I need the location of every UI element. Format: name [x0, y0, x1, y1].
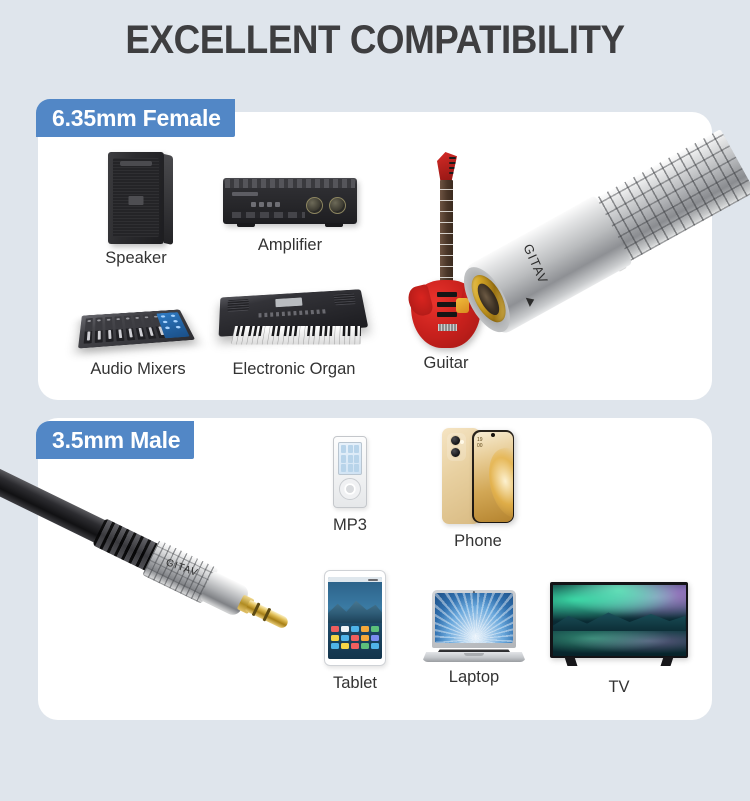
guitar-icon [409, 152, 483, 348]
amplifier-icon [223, 178, 357, 224]
audio-mixer-icon [79, 282, 197, 346]
device-label: Speaker [88, 249, 184, 268]
compatibility-infographic: EXCELLENT COMPATIBILITY 6.35mm Female Sp… [0, 0, 750, 750]
device-label: Laptop [422, 668, 526, 687]
mp3-player-icon [333, 436, 367, 508]
phone-icon: 1900 [442, 428, 514, 524]
device-speaker: Speaker [88, 152, 184, 268]
device-audio-mixers: Audio Mixers [74, 282, 202, 379]
tablet-icon [324, 570, 386, 666]
laptop-icon [422, 590, 526, 662]
tv-icon [550, 582, 688, 666]
device-guitar: Guitar [400, 152, 492, 373]
device-label: Phone [440, 532, 516, 551]
device-label: Guitar [400, 354, 492, 373]
page-title: EXCELLENT COMPATIBILITY [30, 18, 720, 63]
device-electronic-organ: Electronic Organ [218, 286, 370, 379]
device-label: Electronic Organ [218, 360, 370, 379]
device-laptop: Laptop [422, 590, 526, 687]
device-label: Amplifier [220, 236, 360, 255]
section-badge-male: 3.5mm Male [36, 421, 194, 459]
device-label: TV [550, 678, 688, 697]
device-tv: TV [550, 582, 688, 697]
section-badge-female: 6.35mm Female [36, 99, 235, 137]
device-tablet: Tablet [324, 570, 386, 693]
speaker-icon [88, 152, 184, 244]
electronic-organ-icon [219, 286, 369, 348]
device-label: Audio Mixers [74, 360, 202, 379]
device-label: MP3 [313, 516, 387, 535]
device-mp3: MP3 [313, 436, 387, 535]
device-amplifier: Amplifier [220, 178, 360, 255]
device-label: Tablet [324, 674, 386, 693]
device-phone: 1900 Phone [440, 428, 516, 551]
